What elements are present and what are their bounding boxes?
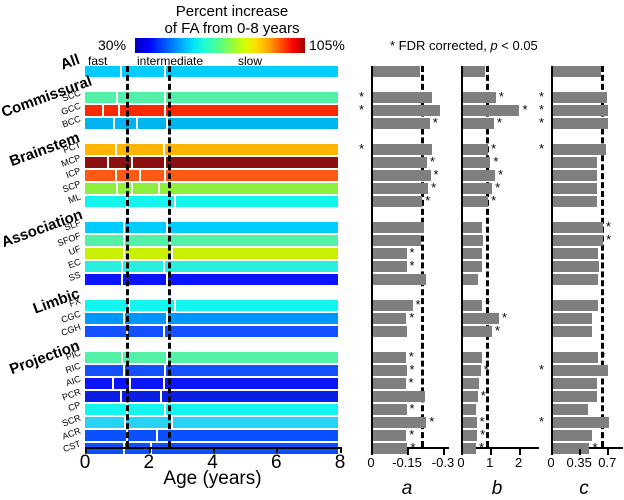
heatmap-segment [125,222,166,233]
bar [373,144,432,155]
heatmap-segment [85,417,124,428]
heatmap-segment [176,300,338,311]
bar [373,313,406,324]
bar [373,404,407,415]
significance-star: * [484,364,489,375]
significance-star: * [431,182,436,193]
panel-x-tick-label: 0.35 [567,455,592,470]
bar [553,222,603,233]
panel-x-tick-label: 2 [515,455,522,470]
heatmap-segment [85,404,126,415]
heatmap-segment [166,404,338,415]
heatmap-row [85,326,340,337]
heatmap-row [85,105,340,116]
bar [463,417,477,428]
bar [463,170,495,181]
heatmap-segment [85,183,116,194]
significance-star: * [606,221,611,232]
significance-star: * [481,390,486,401]
significance-star: * [410,442,415,453]
heatmap-segment [85,326,126,337]
bar [553,105,608,116]
heatmap-segment [128,430,156,441]
heatmap-x-label: Age (years) [85,468,340,490]
bar-panel-b: ****************012b [461,66,537,447]
significance-star: * [409,377,414,388]
bar [553,391,597,402]
heatmap-segment [85,378,112,389]
significance-star: * [601,351,606,362]
fdr-suffix: < 0.05 [498,38,538,53]
bar [463,144,488,155]
heatmap-segment [85,157,107,168]
significance-star: * [409,429,414,440]
heatmap-segment [117,144,163,155]
significance-star: * [359,104,364,115]
heatmap-segment [165,326,338,337]
heatmap-segment [85,235,123,246]
bar [373,352,406,363]
significance-star: * [359,91,364,102]
heatmap-row [85,235,340,246]
bar [463,222,482,233]
bar [463,118,494,129]
bar [463,261,482,272]
heatmap-row [85,118,340,129]
heatmap-segment [141,170,165,181]
heatmap-segment [133,157,164,168]
bar [373,222,424,233]
bar [463,300,482,311]
bar [553,196,597,207]
bar [373,157,427,168]
heatmap-row [85,144,340,155]
heatmap-segment [173,417,338,428]
significance-star: * [539,117,544,128]
bar [373,300,413,311]
bar [373,66,420,77]
heatmap-row [85,391,340,402]
heatmap-segment [162,391,339,402]
bar [373,170,431,181]
panel-x-tick-label: 0.7 [598,455,616,470]
bar [373,378,406,389]
significance-star: * [485,299,490,310]
bar [373,443,407,454]
bar [373,417,426,428]
panel-name-b: b [492,478,503,500]
significance-star: * [592,442,597,453]
panel-x-tick-label: 1 [486,455,493,470]
heatmap-segment [85,261,121,272]
significance-star: * [502,312,507,323]
heatmap-segment [85,248,123,259]
bar [463,66,485,77]
heatmap-segment [165,144,338,155]
bar [553,92,607,103]
heatmap-segment [118,92,164,103]
heatmap-segment [171,235,338,246]
colorbar-title-line1: Percent increase [122,3,342,20]
heatmap-segment [85,365,123,376]
heatmap-segment [85,222,123,233]
heatmap-row [85,261,340,272]
heatmap-segment [166,157,338,168]
heatmap-segment [123,352,166,363]
heatmap-segment [166,365,338,376]
bar [553,300,598,311]
heatmap-row [85,430,340,441]
significance-star: * [480,429,485,440]
bar [463,183,492,194]
significance-star: * [539,91,544,102]
heatmap-segment [128,326,163,337]
fdr-p-symbol: p [490,38,497,53]
significance-star: * [433,117,438,128]
heatmap-row [85,352,340,363]
figure-root: Percent increase of FA from 0-8 years 30… [0,0,624,491]
significance-star: * [606,234,611,245]
colorbar-gradient [135,38,305,53]
heatmap-row [85,183,340,194]
bar [553,326,592,337]
heatmap-segment [125,248,171,259]
heatmap-segment [85,430,126,441]
heatmap-row [85,196,340,207]
heatmap-segment [165,261,338,272]
significance-star: * [480,416,485,427]
heatmap-row [85,417,340,428]
bar [553,365,608,376]
heatmap-row [85,378,340,389]
panel-name-c: c [579,478,589,500]
bar [553,352,598,363]
bar [463,274,478,285]
panel-x-tick-label: 0 [547,455,554,470]
heatmap-dashed-line [168,66,171,447]
significance-star: * [499,91,504,102]
heatmap-segment [166,92,338,103]
heatmap-segment [168,118,338,129]
heatmap-row [85,157,340,168]
heatmap-panel [85,66,340,447]
bar [373,326,407,337]
bar [463,235,483,246]
bar [553,261,599,272]
heatmap-row [85,248,340,259]
significance-star: * [410,247,415,258]
bar [553,443,589,454]
significance-star: * [498,169,503,180]
heatmap-segment [166,105,338,116]
bar [463,430,477,441]
heatmap-row [85,170,340,181]
bar [553,235,603,246]
heatmap-segment [125,313,166,324]
fdr-prefix: * FDR corrected, [390,38,490,53]
significance-star: * [522,104,527,115]
significance-star: * [491,143,496,154]
bar [373,92,432,103]
fdr-annotation: * FDR corrected, p < 0.05 [390,38,538,53]
heatmap-segment [158,430,338,441]
significance-star: * [410,260,415,271]
heatmap-segment [85,92,116,103]
heatmap-segment [123,274,166,285]
colorbar-min-label: 30% [98,37,126,53]
heatmap-segment [160,183,338,194]
bar [463,365,481,376]
heatmap-segment [85,144,115,155]
heatmap-segment [125,235,169,246]
bar [463,105,519,116]
bar [553,170,597,181]
heatmap-segment [131,378,162,389]
significance-star: * [539,364,544,375]
heatmap-row [85,222,340,233]
significance-star: * [409,351,414,362]
significance-star: * [429,416,434,427]
bar [373,391,425,402]
bar [463,443,476,454]
heatmap-segment [173,248,338,259]
bar [553,378,597,389]
bar [463,92,496,103]
heatmap-segment [85,66,120,77]
bar [553,144,606,155]
bar [553,118,608,129]
heatmap-segment [126,417,170,428]
panel-name-a: a [402,478,413,500]
heatmap-row [85,365,340,376]
significance-star: * [434,169,439,180]
significance-star: * [539,104,544,115]
significance-star: * [410,364,415,375]
significance-star: * [539,143,544,154]
heatmap-segment [115,118,135,129]
bar [553,313,592,324]
bar [553,274,598,285]
significance-star: * [539,416,544,427]
colorbar-title-line2: of FA from 0-8 years [122,20,342,37]
bar [553,404,588,415]
heatmap-row [85,274,340,285]
bar [553,248,598,259]
significance-star: * [495,182,500,193]
heatmap-segment [85,352,121,363]
panel-x-tick-label: -0.15 [392,455,422,470]
bar [463,378,479,389]
bar [463,313,499,324]
heatmap-segment [85,274,121,285]
bar [463,404,476,415]
heatmap-segment [85,118,113,129]
significance-star: * [493,156,498,167]
bar-panel-c: **********00.350.7c [551,66,621,447]
heatmap-segment [104,105,118,116]
heatmap-row [85,66,340,77]
heatmap-segment [176,196,338,207]
significance-star: * [495,325,500,336]
heatmap-row [85,92,340,103]
panel-x-tick-label: 0 [367,455,374,470]
heatmap-segment [138,118,166,129]
panel-x-tick-label: 0 [457,455,464,470]
bar [373,196,422,207]
heatmap-segment [168,274,338,285]
bar [553,157,597,168]
bar [373,274,426,285]
heatmap-segment [85,196,126,207]
significance-star: * [497,117,502,128]
heatmap-row [85,404,340,415]
bar [553,66,601,77]
bar [463,352,482,363]
significance-star: * [410,403,415,414]
heatmap-segment [168,313,338,324]
significance-star: * [409,312,414,323]
bar [373,248,407,259]
bar [373,118,430,129]
bar [463,391,478,402]
heatmap-segment [85,170,115,181]
bar [463,326,492,337]
colorbar-max-label: 105% [309,37,345,53]
significance-star: * [430,156,435,167]
heatmap-segment [168,222,338,233]
bar [553,183,597,194]
heatmap-segment [168,352,338,363]
heatmap-segment [128,404,164,415]
bar [463,196,488,207]
heatmap-segment [85,391,120,402]
bar [373,105,440,116]
bar [553,430,592,441]
significance-star: * [359,143,364,154]
bar [373,365,407,376]
significance-star: * [425,195,430,206]
heatmap-segment [165,378,338,389]
colorbar-title: Percent increase of FA from 0-8 years [122,3,342,37]
bar [463,248,482,259]
significance-star: * [416,299,421,310]
bar [553,417,609,428]
bar [373,183,428,194]
heatmap-segment [133,183,158,194]
heatmap-segment [85,300,128,311]
heatmap-row [85,313,340,324]
heatmap-dashed-line [126,66,129,447]
heatmap-segment [125,365,164,376]
heatmap-segment [166,66,338,77]
panel-x-tick-label: -0.3 [432,455,454,470]
heatmap-segment [166,170,338,181]
heatmap-segment [85,313,123,324]
significance-star: * [491,195,496,206]
bar [373,261,407,272]
significance-star: * [479,442,484,453]
bar [373,430,406,441]
heatmap-segment [85,105,102,116]
bar-panel-a: *******************0-0.15-0.3a [371,66,447,447]
heatmap-row [85,300,340,311]
bar [463,157,490,168]
